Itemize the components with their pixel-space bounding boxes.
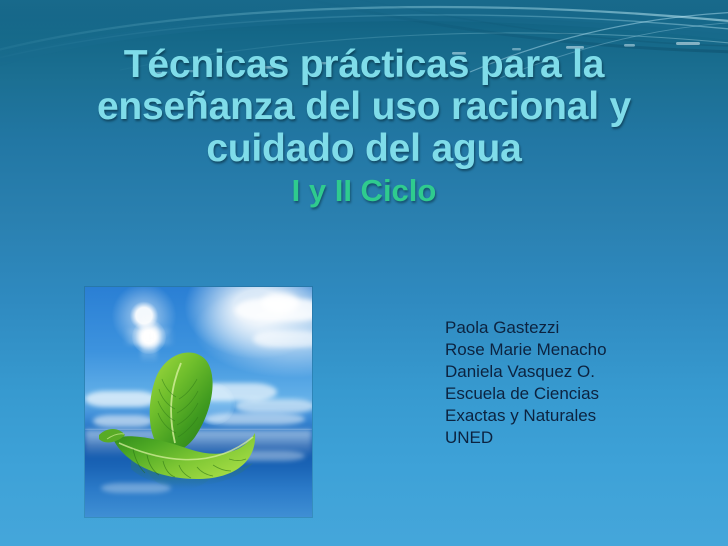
credit-line: UNED xyxy=(445,427,695,449)
credit-line: Daniela Vasquez O. xyxy=(445,361,695,383)
slide-subtitle: I y II Ciclo xyxy=(0,174,728,208)
title-line-1: Técnicas prácticas para la xyxy=(0,44,728,86)
slide-title-block: Técnicas prácticas para la enseñanza del… xyxy=(0,44,728,208)
credit-line: Paola Gastezzi xyxy=(445,317,695,339)
credits-block: Paola Gastezzi Rose Marie Menacho Daniel… xyxy=(445,317,695,450)
leaf-icon xyxy=(85,287,312,517)
title-line-2: enseñanza del uso racional y xyxy=(0,86,728,128)
credit-line: Rose Marie Menacho xyxy=(445,339,695,361)
leaf-boat-photo xyxy=(85,287,312,517)
credit-line: Exactas y Naturales xyxy=(445,405,695,427)
credit-line: Escuela de Ciencias xyxy=(445,383,695,405)
title-line-3: cuidado del agua xyxy=(0,128,728,170)
presentation-slide: Técnicas prácticas para la enseñanza del… xyxy=(0,0,728,546)
